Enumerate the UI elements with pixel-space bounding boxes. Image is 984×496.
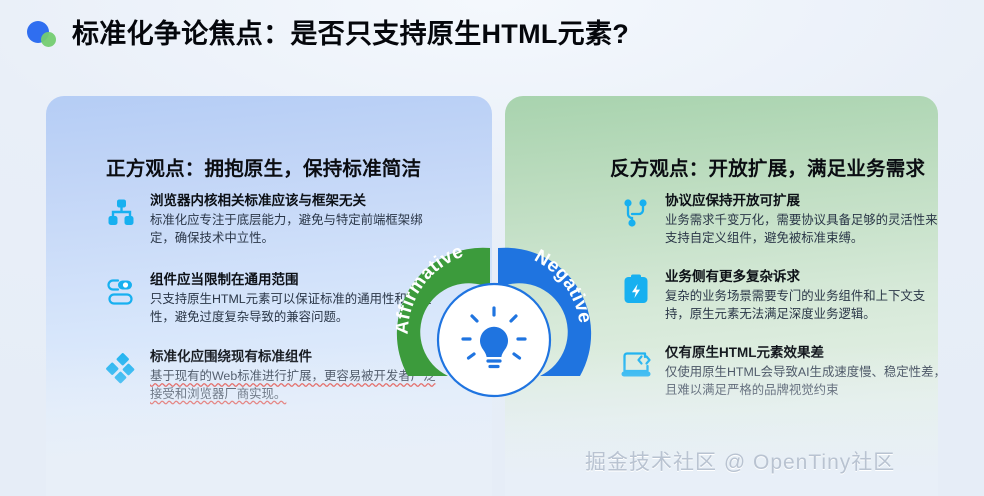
list-item-body: 仅使用原生HTML会导致AI生成速度慢、稳定性差，且难以满足严格的品牌视觉约束: [665, 364, 949, 399]
list-item-heading: 业务侧有更多复杂诉求: [665, 268, 949, 286]
slide-header: 标准化争论焦点：是否只支持原生HTML元素?: [0, 0, 984, 68]
git-branch-icon: [619, 196, 653, 230]
slide-root: 标准化争论焦点：是否只支持原生HTML元素? 正方观点：拥抱原生，保持标准简洁 …: [0, 0, 984, 496]
list-item-text: 业务侧有更多复杂诉求 复杂的业务场景需要专门的业务组件和上下文支持，原生元素无法…: [665, 268, 949, 323]
list-item: 浏览器内核相关标准应该与框架无关 标准化应专注于底层能力，避免与特定前端框架绑定…: [104, 192, 444, 247]
list-item: 业务侧有更多复杂诉求 复杂的业务场景需要专门的业务组件和上下文支持，原生元素无法…: [619, 268, 949, 323]
page-title: 标准化争论焦点：是否只支持原生HTML元素?: [72, 21, 629, 48]
four-diamonds-icon: [104, 352, 138, 386]
list-item-text: 仅有原生HTML元素效果差 仅使用原生HTML会导致AI生成速度慢、稳定性差，且…: [665, 344, 949, 399]
two-circles-logo-icon: [26, 19, 60, 49]
toggle-list-icon: [104, 275, 138, 309]
list-item: 标准化应围绕现有标准组件 基于现有的Web标准进行扩展，更容易被开发者广泛接受和…: [104, 348, 444, 403]
list-item-body: 业务需求千变万化，需要协议具备足够的灵活性来支持自定义组件，避免被标准束缚。: [665, 212, 949, 247]
list-item: 组件应当限制在通用范围 只支持原生HTML元素可以保证标准的通用性和稳定性，避免…: [104, 271, 444, 326]
list-item-text: 协议应保持开放可扩展 业务需求千变万化，需要协议具备足够的灵活性来支持自定义组件…: [665, 192, 949, 247]
logo-green-circle: [41, 32, 56, 47]
negative-panel-title: 反方观点：开放扩展，满足业务需求: [610, 152, 925, 181]
center-debate-badge: Affirmative Negative: [396, 236, 592, 432]
laptop-code-icon: [619, 348, 653, 382]
sitemap-hierarchy-icon: [104, 196, 138, 230]
list-item-heading: 协议应保持开放可扩展: [665, 192, 949, 210]
affirmative-panel-title: 正方观点：拥抱原生，保持标准简洁: [106, 152, 421, 181]
list-item: 协议应保持开放可扩展 业务需求千变万化，需要协议具备足够的灵活性来支持自定义组件…: [619, 192, 949, 247]
list-item-heading: 浏览器内核相关标准应该与框架无关: [150, 192, 444, 210]
list-item: 仅有原生HTML元素效果差 仅使用原生HTML会导致AI生成速度慢、稳定性差，且…: [619, 344, 949, 399]
watermark: 掘金技术社区 @ OpenTiny社区: [585, 446, 965, 480]
list-item-body: 复杂的业务场景需要专门的业务组件和上下文支持，原生元素无法满足深度业务逻辑。: [665, 288, 949, 323]
clipboard-bolt-icon: [619, 272, 653, 306]
list-item-heading: 仅有原生HTML元素效果差: [665, 344, 949, 362]
